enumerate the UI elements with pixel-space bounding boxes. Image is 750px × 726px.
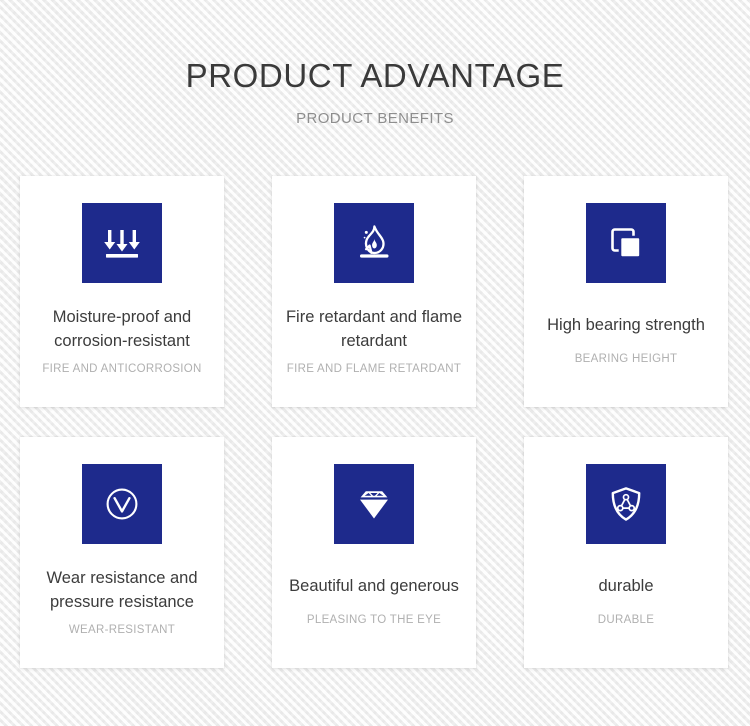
card-caption: FIRE AND FLAME RETARDANT — [283, 361, 465, 377]
advantage-card[interactable]: Fire retardant and flame retardant FIRE … — [272, 176, 476, 407]
card-caption: FIRE AND ANTICORROSION — [38, 361, 205, 377]
stacked-squares-icon — [604, 221, 648, 265]
icon-tile — [586, 203, 666, 283]
icon-tile — [334, 203, 414, 283]
advantage-card-grid: Moisture-proof and corrosion-resistant F… — [20, 176, 730, 668]
card-title: Wear resistance and pressure resistance — [20, 566, 224, 614]
icon-tile — [82, 464, 162, 544]
icon-tile — [586, 464, 666, 544]
card-title: durable — [590, 574, 661, 598]
advantage-card[interactable]: High bearing strength BEARING HEIGHT — [524, 176, 728, 407]
flame-on-line-icon — [352, 221, 396, 265]
card-caption: PLEASING TO THE EYE — [303, 612, 445, 628]
card-title: High bearing strength — [539, 313, 713, 337]
circle-chevron-down-icon — [100, 482, 144, 526]
section-header: PRODUCT ADVANTAGE PRODUCT BENEFITS — [0, 0, 750, 128]
shield-nodes-icon — [604, 482, 648, 526]
card-title: Fire retardant and flame retardant — [272, 305, 476, 353]
advantage-card[interactable]: durable DURABLE — [524, 437, 728, 668]
card-caption: WEAR-RESISTANT — [65, 622, 179, 638]
card-caption: DURABLE — [594, 612, 658, 628]
advantage-card[interactable]: Moisture-proof and corrosion-resistant F… — [20, 176, 224, 407]
icon-tile — [82, 203, 162, 283]
advantage-card[interactable]: Wear resistance and pressure resistance … — [20, 437, 224, 668]
product-advantage-section: PRODUCT ADVANTAGE PRODUCT BENEFITS — [0, 0, 750, 726]
card-caption: BEARING HEIGHT — [571, 351, 682, 367]
advantage-card[interactable]: Beautiful and generous PLEASING TO THE E… — [272, 437, 476, 668]
card-title: Moisture-proof and corrosion-resistant — [20, 305, 224, 353]
page-subtitle: PRODUCT BENEFITS — [0, 110, 750, 128]
diamond-gem-icon — [352, 482, 396, 526]
icon-tile — [334, 464, 414, 544]
page-title: PRODUCT ADVANTAGE — [0, 56, 750, 96]
card-title: Beautiful and generous — [281, 574, 467, 598]
arrows-down-to-line-icon — [100, 221, 144, 265]
